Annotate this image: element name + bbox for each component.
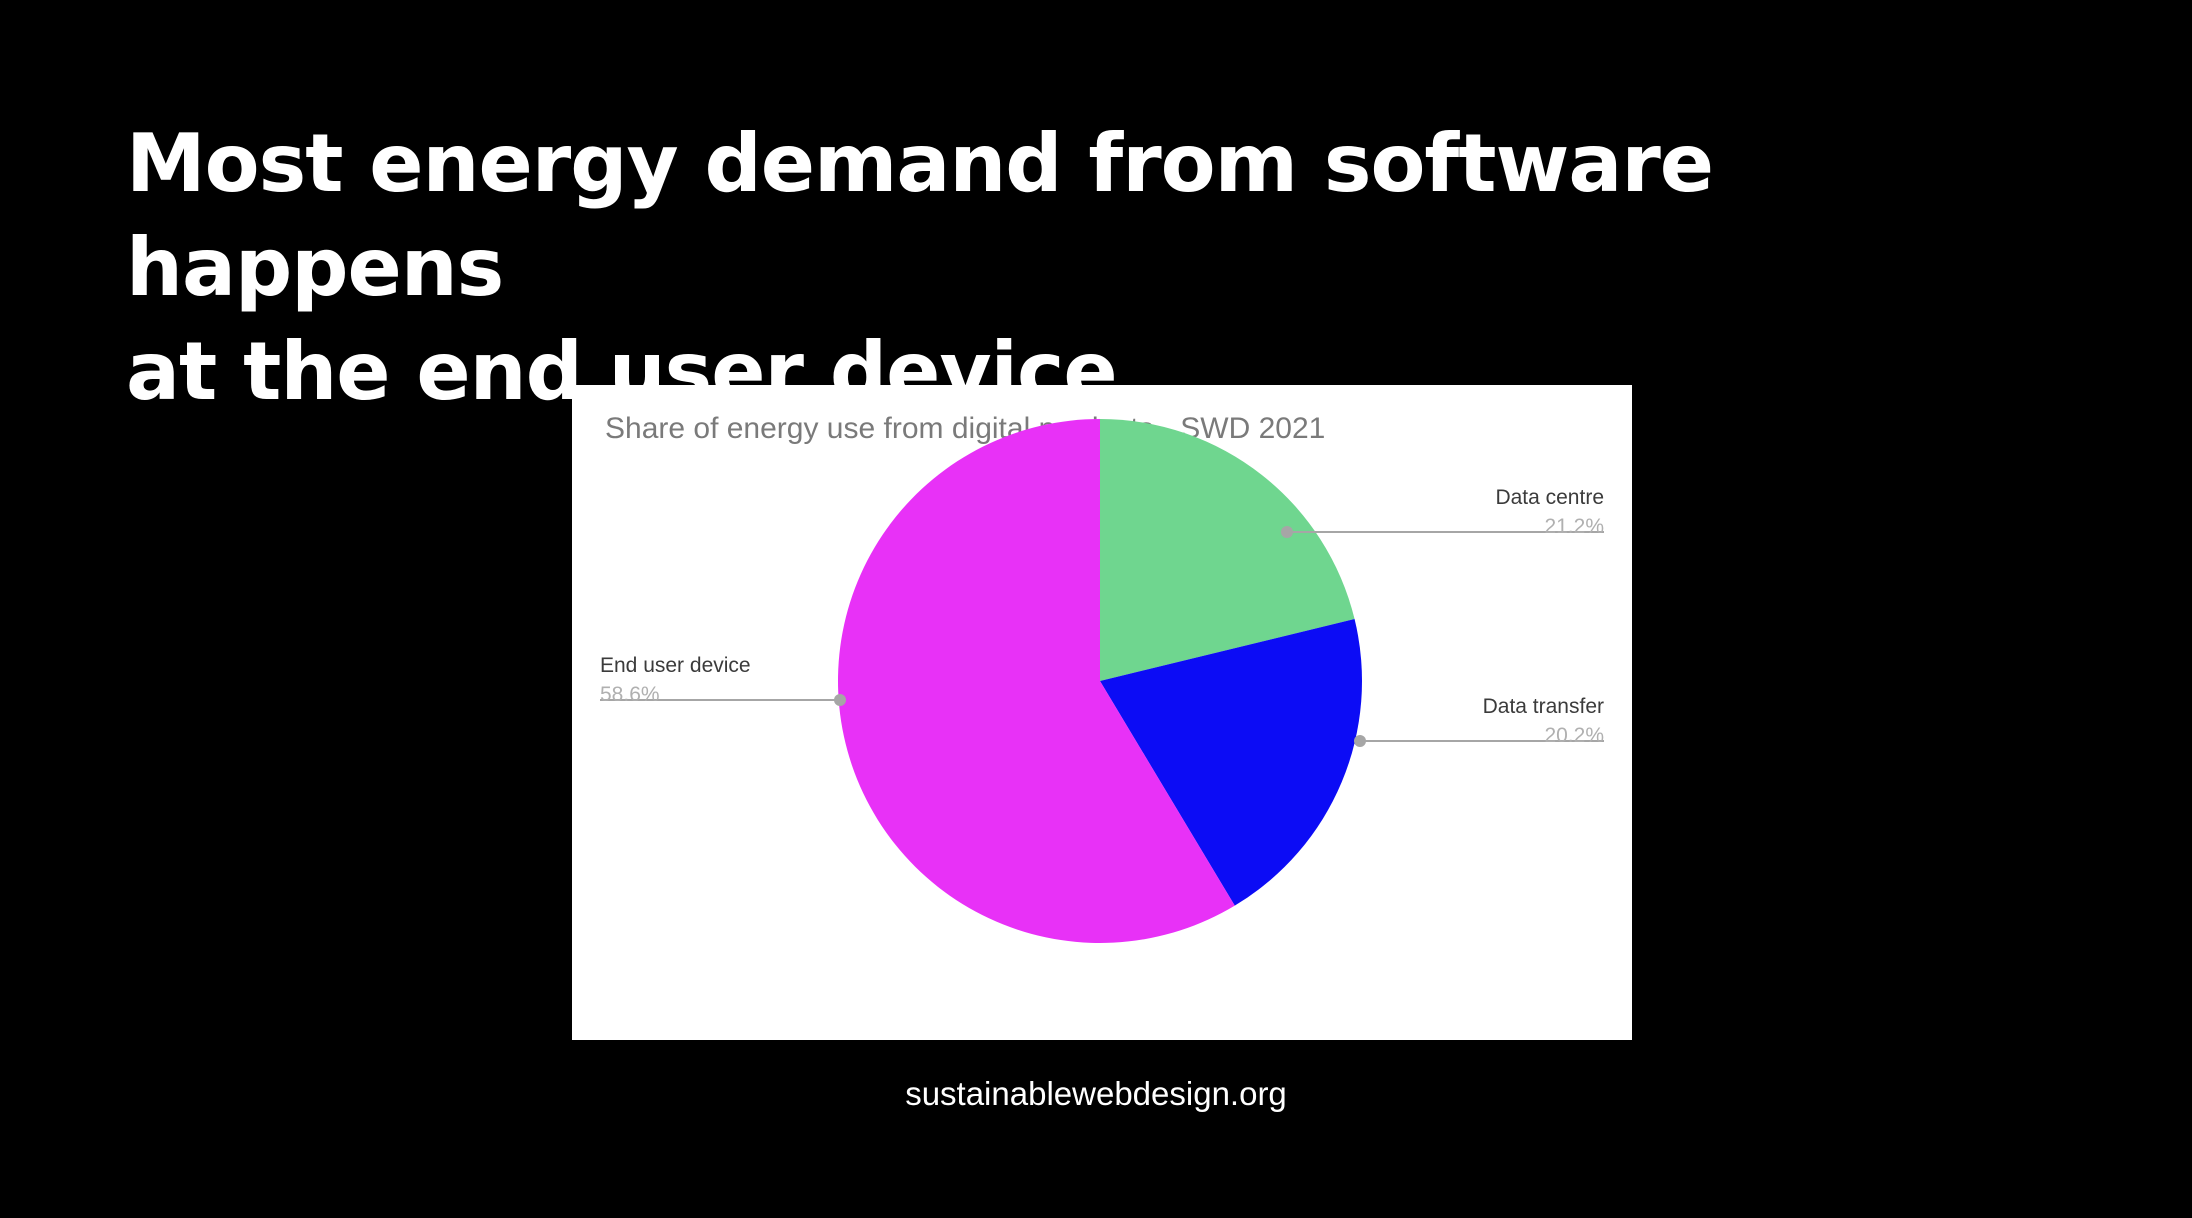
callout-data-transfer[interactable]: Data transfer 20.2% [1483, 695, 1604, 749]
leader-dot-data-transfer [1354, 735, 1366, 747]
callout-data-centre-percent: 21.2% [1495, 515, 1604, 540]
callout-data-centre[interactable]: Data centre 21.2% [1495, 486, 1604, 540]
callout-data-transfer-label: Data transfer [1483, 695, 1604, 720]
slide-headline: Most energy demand from software happens… [126, 112, 2026, 424]
pie-chart-svg [572, 385, 1632, 1040]
footer-source-url: sustainablewebdesign.org [0, 1075, 2192, 1113]
leader-dot-data-centre [1281, 526, 1293, 538]
callout-data-centre-label: Data centre [1495, 486, 1604, 511]
leader-dot-end-user-device [834, 694, 846, 706]
callout-end-user-device[interactable]: End user device 58.6% [600, 654, 751, 708]
callout-data-transfer-percent: 20.2% [1483, 724, 1604, 749]
pie-chart [572, 385, 1632, 1040]
callout-end-user-device-percent: 58.6% [600, 683, 751, 708]
callout-end-user-device-label: End user device [600, 654, 751, 679]
chart-card: Share of energy use from digital product… [572, 385, 1632, 1040]
